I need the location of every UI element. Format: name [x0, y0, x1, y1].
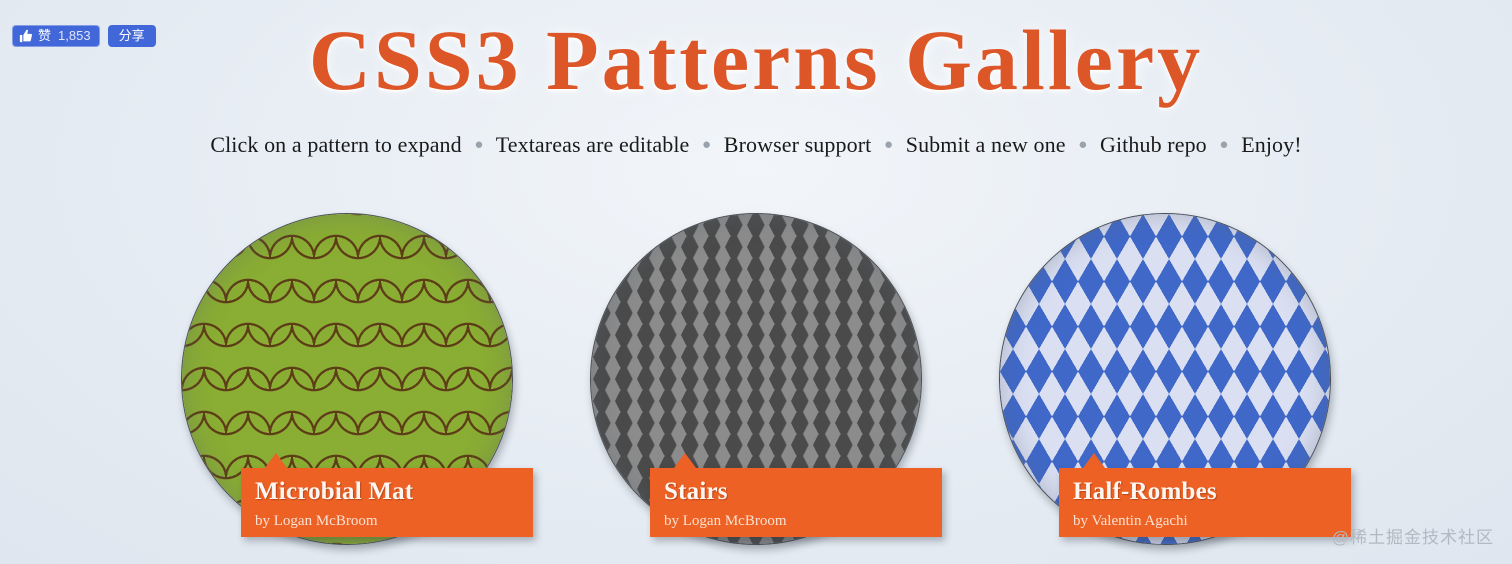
pattern-author: by Valentin Agachi: [1073, 510, 1351, 532]
subtitle-link-submit[interactable]: Submit a new one: [906, 132, 1066, 157]
share-button[interactable]: 分享: [108, 25, 156, 47]
subtitle-link-enjoy[interactable]: Enjoy!: [1241, 132, 1301, 157]
pattern-name: Stairs: [664, 478, 942, 506]
pattern-card-microbial-mat[interactable]: Microbial Mat by Logan McBroom: [181, 213, 513, 545]
share-label: 分享: [119, 28, 145, 43]
pattern-author: by Logan McBroom: [255, 510, 533, 532]
subtitle-nav: Click on a pattern to expand ● Textareas…: [0, 132, 1512, 158]
bullet-separator-icon: ●: [474, 137, 483, 154]
page-title: CSS3 Patterns Gallery: [0, 8, 1512, 112]
pattern-name: Half-Rombes: [1073, 478, 1351, 506]
facebook-like-button[interactable]: 赞 1,853: [12, 25, 100, 47]
pattern-banner[interactable]: Microbial Mat by Logan McBroom: [241, 468, 533, 537]
ribbon-notch-icon: [1083, 453, 1105, 468]
ribbon-notch-icon: [674, 453, 696, 468]
pattern-banner[interactable]: Stairs by Logan McBroom: [650, 468, 942, 537]
pattern-card-half-rombes[interactable]: Half-Rombes by Valentin Agachi: [999, 213, 1331, 545]
pattern-gallery: Microbial Mat by Logan McBroom Stairs by…: [0, 213, 1512, 545]
subtitle-link-browser-support[interactable]: Browser support: [724, 132, 872, 157]
subtitle-link-expand[interactable]: Click on a pattern to expand: [210, 132, 461, 157]
pattern-author: by Logan McBroom: [664, 510, 942, 532]
pattern-card-stairs[interactable]: Stairs by Logan McBroom: [590, 213, 922, 545]
thumbs-up-icon: [19, 29, 33, 43]
bullet-separator-icon: ●: [1219, 137, 1228, 154]
subtitle-link-github[interactable]: Github repo: [1100, 132, 1207, 157]
pattern-name: Microbial Mat: [255, 478, 533, 506]
like-count: 1,853: [58, 28, 91, 43]
ribbon-notch-icon: [265, 453, 287, 468]
bullet-separator-icon: ●: [702, 137, 711, 154]
bullet-separator-icon: ●: [884, 137, 893, 154]
social-share-bar: 赞 1,853 分享: [12, 25, 156, 47]
pattern-banner[interactable]: Half-Rombes by Valentin Agachi: [1059, 468, 1351, 537]
watermark: @稀土掘金技术社区: [1332, 523, 1494, 548]
subtitle-link-textareas[interactable]: Textareas are editable: [496, 132, 690, 157]
bullet-separator-icon: ●: [1078, 137, 1087, 154]
like-label: 赞: [38, 28, 51, 43]
